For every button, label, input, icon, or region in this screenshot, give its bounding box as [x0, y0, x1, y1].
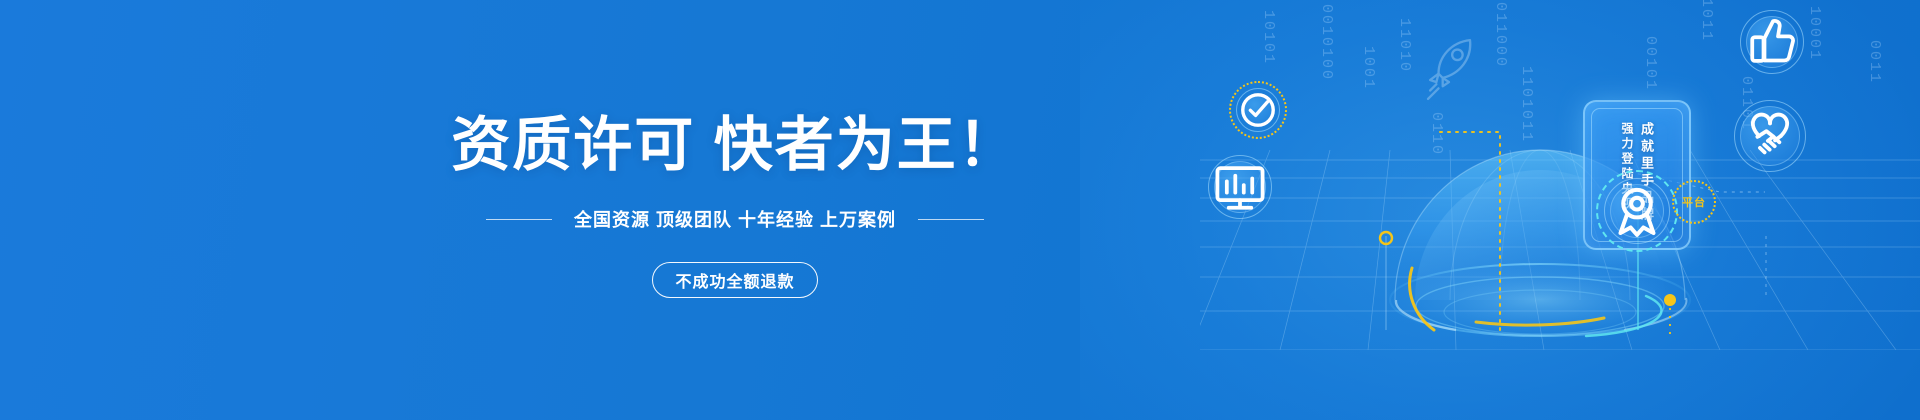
banner-copy: 资质许可 快者为王！ 全国资源 顶级团队 十年经验 上万案例 不成功全额退款 — [0, 0, 1470, 420]
refund-guarantee-button[interactable]: 不成功全额退款 — [652, 262, 818, 298]
banner-headline: 资质许可 快者为王！ — [451, 116, 1018, 175]
divider-line-left — [486, 219, 552, 220]
banner-subline: 全国资源 顶级团队 十年经验 上万案例 — [574, 206, 896, 232]
divider-line-right — [918, 219, 984, 220]
banner-subline-row: 全国资源 顶级团队 十年经验 上万案例 — [486, 206, 984, 232]
promo-banner: 资质许可 快者为王！ 全国资源 顶级团队 十年经验 上万案例 不成功全额退款 — [0, 0, 1920, 420]
